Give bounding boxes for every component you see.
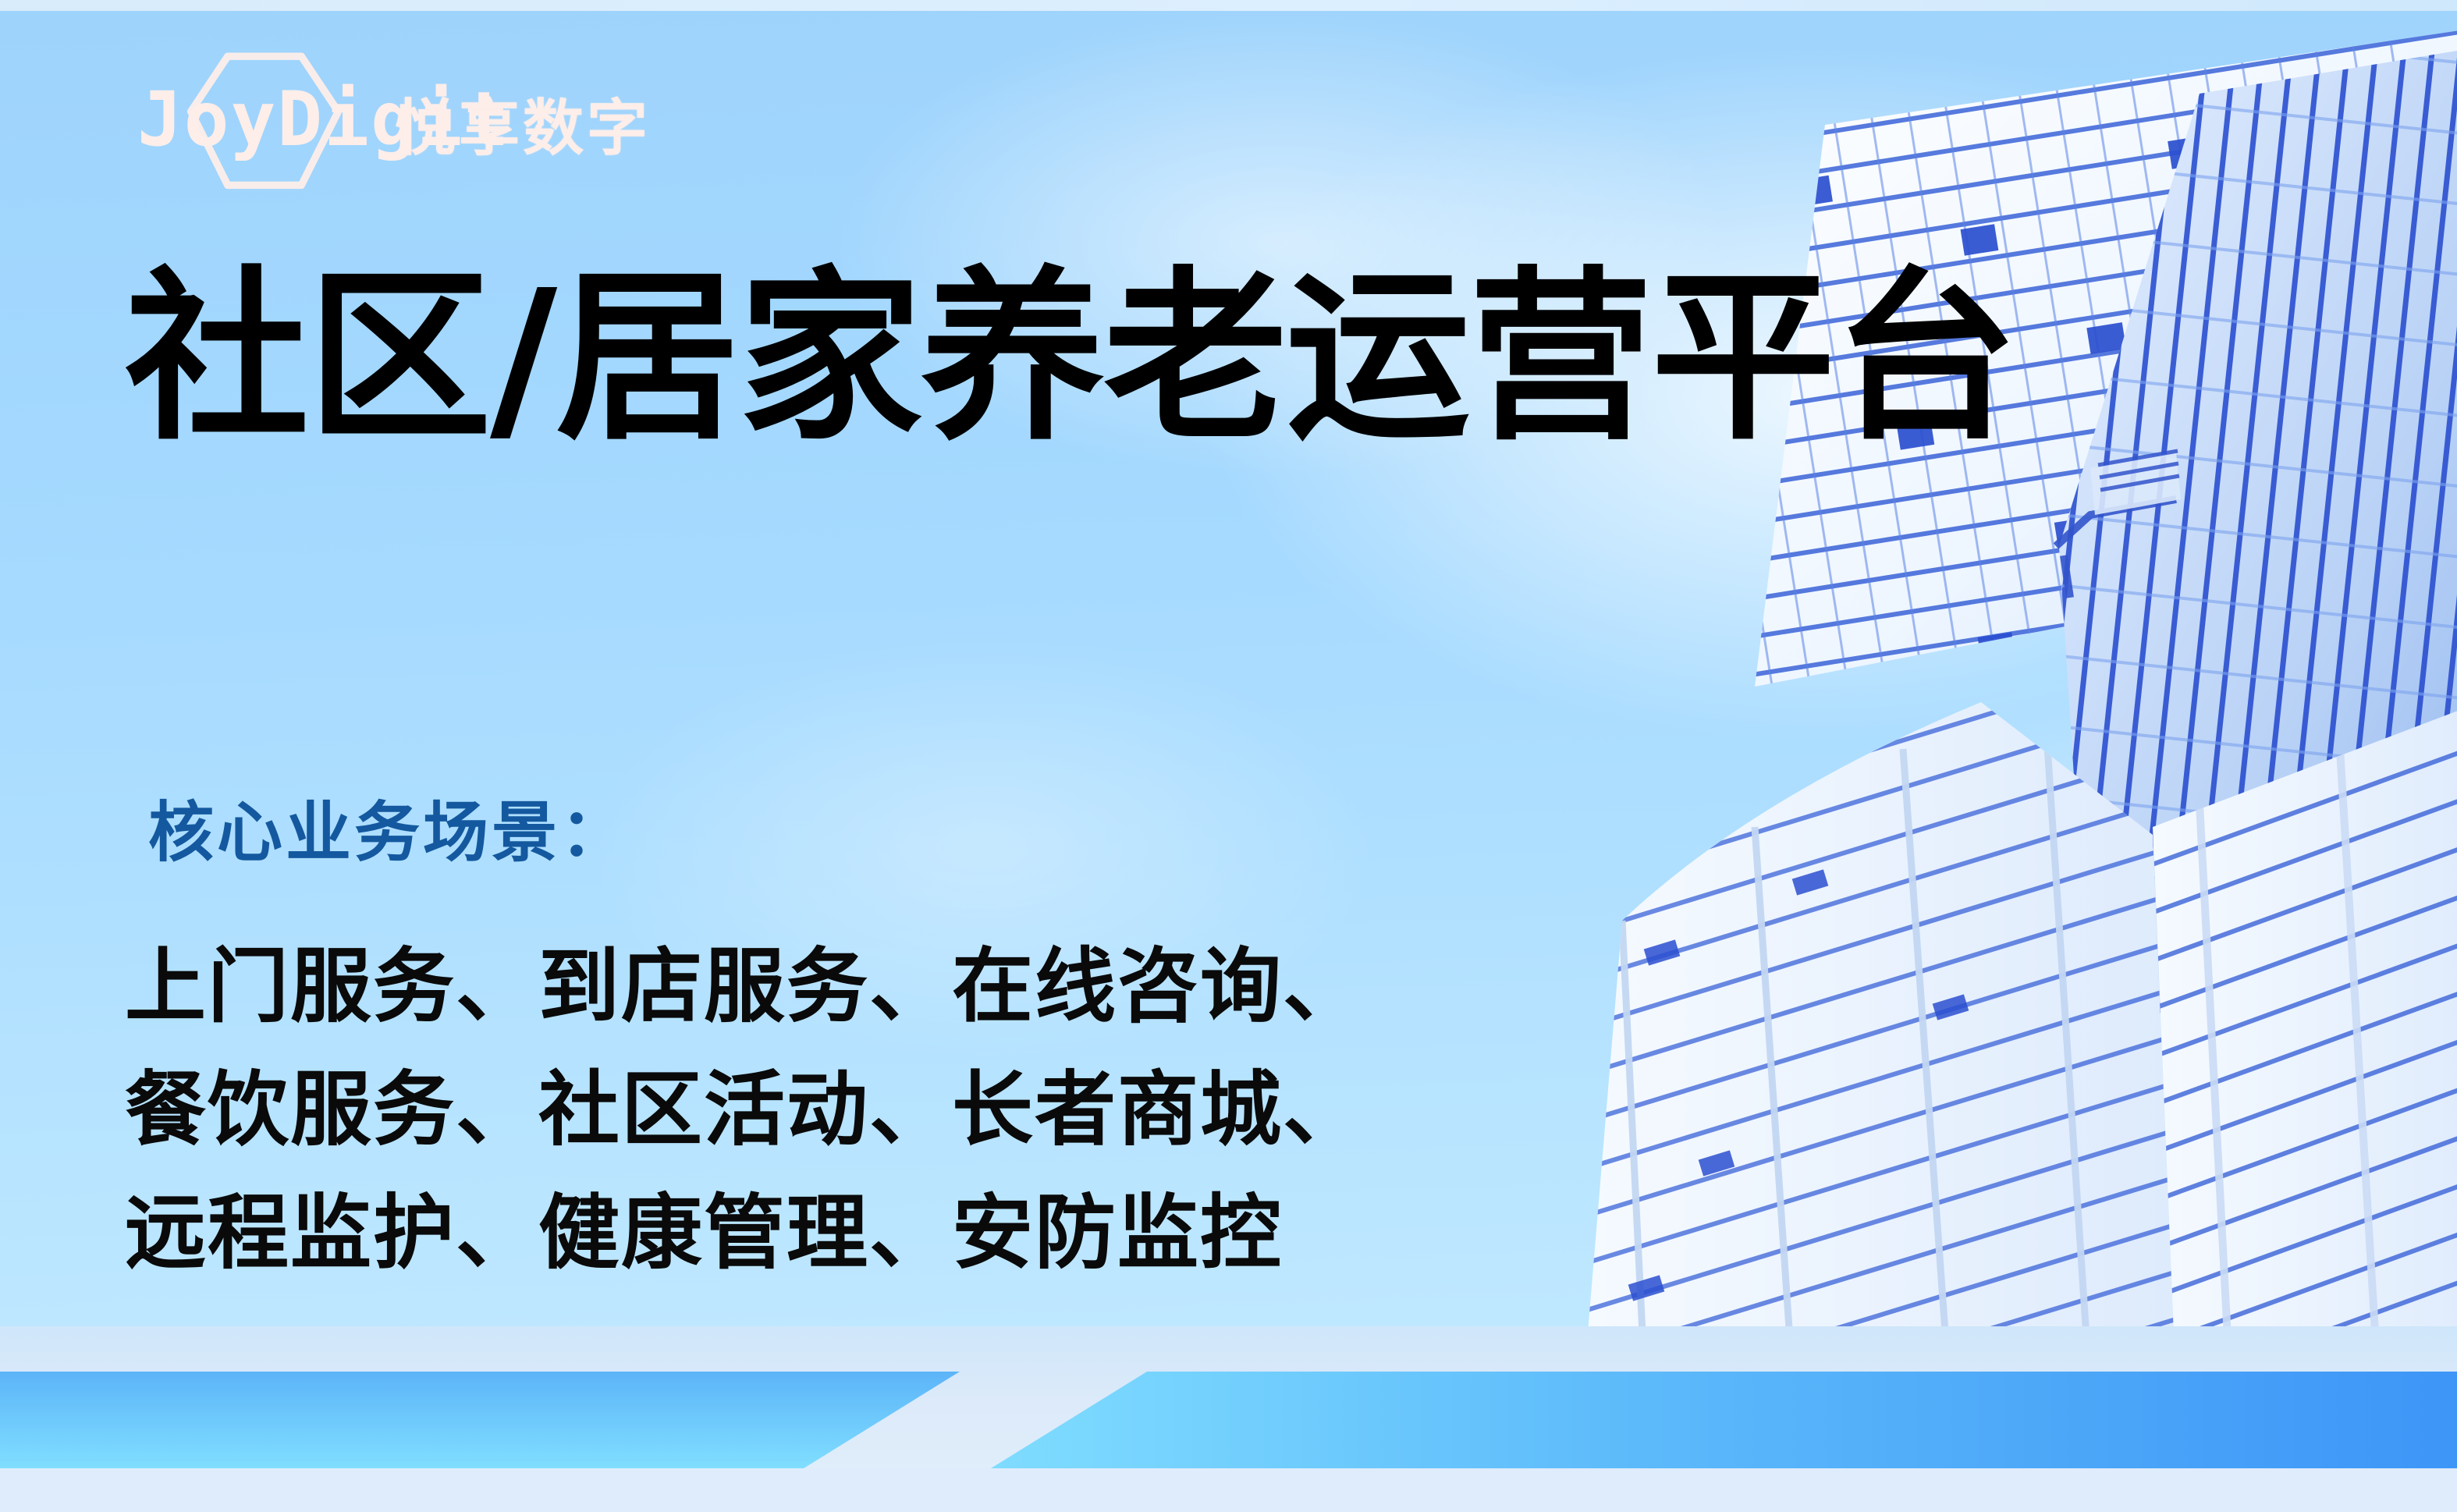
section-label: 核心业务场景： xyxy=(148,780,629,875)
scenario-list: 上门服务、到店服务、在线咨询、 餐饮服务、社区活动、长者商城、 远程监护、健康管… xyxy=(125,925,1365,1294)
page-title: 社区/居家养老运营平台 xyxy=(125,259,2016,458)
skyscraper-illustration xyxy=(1427,0,2457,1373)
scenario-line: 上门服务、到店服务、在线咨询、 xyxy=(125,925,1365,1048)
band-shape-left xyxy=(0,1372,960,1468)
scenario-line: 餐饮服务、社区活动、长者商城、 xyxy=(125,1048,1365,1171)
brand-logo: JoyDigit 悦享数字 xyxy=(137,45,683,193)
logo-wordmark-cn: 悦享数字 xyxy=(395,80,651,167)
band-shape-right xyxy=(991,1372,2457,1468)
scenario-line: 远程监护、健康管理、安防监控 xyxy=(125,1171,1365,1294)
bottom-decor-band xyxy=(0,1326,2457,1512)
slide-root: JoyDigit 悦享数字 社区/居家养老运营平台 核心业务场景： 上门服务、到… xyxy=(0,0,2457,1512)
